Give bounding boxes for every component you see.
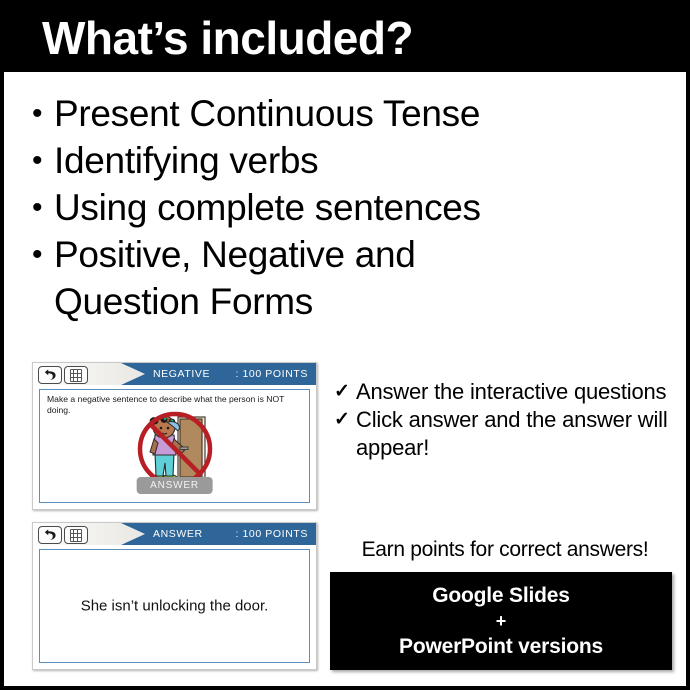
versions-plus-sign: + [496, 610, 507, 632]
back-arrow-icon[interactable] [38, 366, 62, 384]
answer-slide-thumbnail[interactable]: ANSWER : 100 POINTS She isn’t unlocking … [32, 522, 317, 670]
list-item-label: Positive, Negative and [54, 231, 652, 278]
slide-title: NEGATIVE [153, 363, 210, 385]
list-item-label: Present Continuous Tense [54, 90, 652, 137]
bullet-icon: • [32, 184, 54, 231]
versions-badge: Google Slides + PowerPoint versions [330, 572, 672, 670]
bullet-icon: • [32, 231, 54, 278]
slide-points-label: : 100 POINTS [235, 363, 308, 385]
versions-line-google-slides: Google Slides [432, 581, 569, 610]
answer-button[interactable]: ANSWER [136, 477, 213, 494]
slide-preview-page: What’s included? • Present Continuous Te… [0, 0, 690, 690]
list-item-label: Answer the interactive questions [356, 378, 674, 406]
list-item: • Present Continuous Tense [32, 90, 652, 137]
list-item: • Positive, Negative and [32, 231, 652, 278]
calculator-icon[interactable] [64, 526, 88, 544]
list-item: • Using complete sentences [32, 184, 652, 231]
earn-points-text: Earn points for correct answers! [330, 538, 680, 562]
check-icon: ✓ [334, 378, 356, 406]
list-item: • Identifying verbs [32, 137, 652, 184]
check-icon: ✓ [334, 406, 356, 434]
page-title: What’s included? [4, 15, 413, 61]
instructions-checklist: ✓ Answer the interactive questions ✓ Cli… [334, 378, 674, 462]
slide-header-bar: NEGATIVE : 100 POINTS [33, 363, 316, 385]
header-banner: What’s included? [4, 4, 686, 72]
list-item: ✓ Click answer and the answer will appea… [334, 406, 674, 462]
question-slide-thumbnail[interactable]: NEGATIVE : 100 POINTS Make a negative se… [32, 362, 317, 510]
bullet-icon: • [32, 90, 54, 137]
bullet-icon: • [32, 137, 54, 184]
included-list: • Present Continuous Tense • Identifying… [32, 90, 652, 325]
calculator-icon[interactable] [64, 366, 88, 384]
slide-title: ANSWER [153, 523, 203, 545]
list-item-label: Using complete sentences [54, 184, 652, 231]
slide-content-area: Make a negative sentence to describe wha… [39, 389, 310, 503]
answer-sentence-text: She isn’t unlocking the door. [40, 598, 309, 615]
list-item: ✓ Answer the interactive questions [334, 378, 674, 406]
list-item-label: Click answer and the answer will appear! [356, 406, 674, 462]
list-item-label-continuation: Question Forms [32, 278, 652, 325]
versions-line-powerpoint: PowerPoint versions [399, 632, 603, 661]
slide-points-label: : 100 POINTS [235, 523, 308, 545]
back-arrow-icon[interactable] [38, 526, 62, 544]
slide-content-area: She isn’t unlocking the door. [39, 549, 310, 663]
slide-header-bar: ANSWER : 100 POINTS [33, 523, 316, 545]
list-item-label: Identifying verbs [54, 137, 652, 184]
